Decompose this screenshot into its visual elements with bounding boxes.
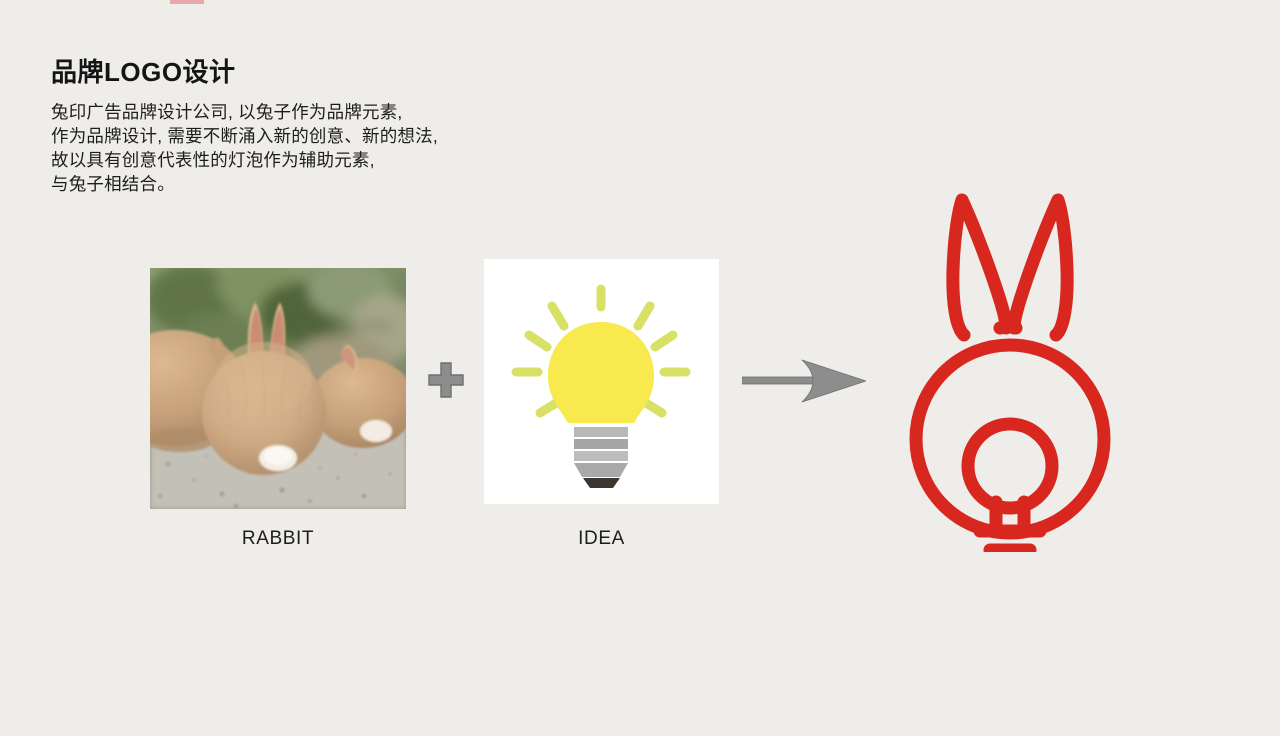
description-line: 兔印广告品牌设计公司, 以兔子作为品牌元素, — [51, 100, 671, 124]
caption-idea: IDEA — [484, 528, 719, 550]
brand-logo-result — [898, 182, 1122, 552]
plus-icon — [424, 358, 468, 402]
description-line: 作为品牌设计, 需要不断涌入新的创意、新的想法, — [51, 124, 671, 148]
description-text: 兔印广告品牌设计公司, 以兔子作为品牌元素, 作为品牌设计, 需要不断涌入新的创… — [51, 100, 671, 196]
rabbit-photo — [150, 268, 406, 509]
page-title: 品牌LOGO设计 — [51, 57, 671, 88]
idea-card — [484, 259, 719, 504]
caption-rabbit: RABBIT — [150, 528, 406, 550]
description-line: 故以具有创意代表性的灯泡作为辅助元素, — [51, 148, 671, 172]
description-line: 与兔子相结合。 — [51, 172, 671, 196]
intro-text-block: 品牌LOGO设计 兔印广告品牌设计公司, 以兔子作为品牌元素, 作为品牌设计, … — [51, 57, 671, 196]
arrow-right-icon — [742, 358, 866, 404]
rabbit-photo-card — [150, 268, 406, 509]
rabbit-bulb-logo — [898, 182, 1122, 552]
lightbulb-icon — [484, 259, 719, 504]
top-edge-sliver — [170, 0, 204, 4]
